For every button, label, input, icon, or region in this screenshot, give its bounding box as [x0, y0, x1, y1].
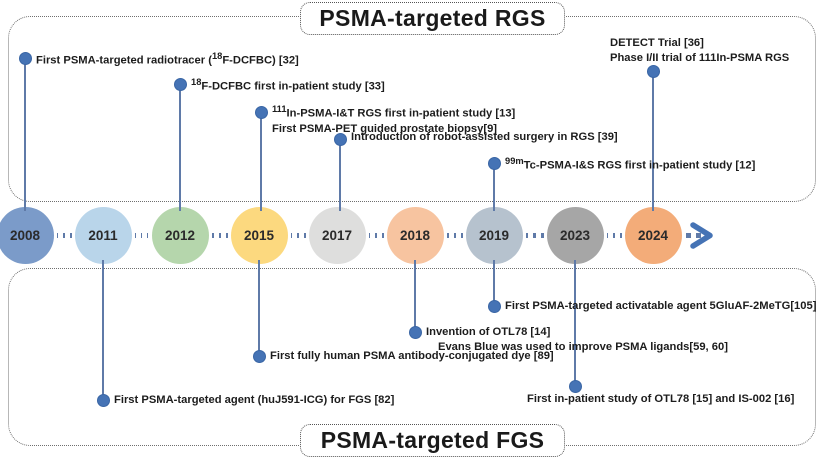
- rgs-event-2024: DETECT Trial [36] Phase I/II trial of 11…: [610, 36, 789, 66]
- rgs-event-2017-line-0: Introduction of robot-assisted surgery i…: [351, 130, 618, 145]
- rgs-event-2019-line-0: 99mTc-PSMA-I&S RGS first in-patient stud…: [505, 154, 755, 174]
- event-dot-rgs-2015: [255, 106, 268, 119]
- rgs-event-2012: 18F-DCFBC first in-patient study [33]: [191, 75, 385, 95]
- timeline-connector-segment: [369, 233, 384, 238]
- timeline-year-2023: 2023: [547, 207, 604, 264]
- event-dot-rgs-2019: [488, 157, 501, 170]
- timeline-year-2011: 2011: [75, 207, 132, 264]
- rgs-event-2012-line-0: 18F-DCFBC first in-patient study [33]: [191, 75, 385, 95]
- timeline-figure: PSMA-targeted RGS PSMA-targeted FGS 2008…: [0, 0, 824, 461]
- timeline-connector-segment: [607, 233, 622, 238]
- timeline-year-2019: 2019: [466, 207, 523, 264]
- fgs-event-2023: First in-patient study of OTL78 [15] and…: [527, 392, 794, 407]
- stem-fgs-2015: [258, 260, 260, 357]
- rgs-event-2008: First PSMA-targeted radiotracer (18F-DCF…: [36, 49, 299, 69]
- timeline-year-2012: 2012: [152, 207, 209, 264]
- rgs-section-title: PSMA-targeted RGS: [300, 2, 565, 35]
- stem-rgs-2017: [339, 139, 341, 211]
- rgs-event-2024-line-1: Phase I/II trial of 111In-PSMA RGS: [610, 51, 789, 66]
- timeline-connector-segment: [57, 233, 72, 238]
- timeline-year-2024: 2024: [625, 207, 682, 264]
- fgs-event-2018-line-1: Evans Blue was used to improve PSMA liga…: [426, 340, 728, 355]
- timeline-arrow-icon: [688, 222, 718, 249]
- timeline-year-label: 2017: [322, 228, 352, 243]
- rgs-event-2015-line-0: 111In-PSMA-I&T RGS first in-patient stud…: [272, 102, 515, 122]
- timeline-year-label: 2015: [244, 228, 274, 243]
- rgs-event-2019: 99mTc-PSMA-I&S RGS first in-patient stud…: [505, 154, 755, 174]
- timeline-year-2017: 2017: [309, 207, 366, 264]
- stem-fgs-2018: [414, 260, 416, 333]
- stem-rgs-2015: [260, 112, 262, 211]
- event-dot-fgs-2015: [253, 350, 266, 363]
- event-dot-rgs-2008: [19, 52, 32, 65]
- timeline-year-label: 2008: [10, 228, 40, 243]
- timeline-year-label: 2018: [400, 228, 430, 243]
- timeline-year-2018: 2018: [387, 207, 444, 264]
- event-dot-rgs-2024: [647, 65, 660, 78]
- stem-rgs-2012: [179, 84, 181, 211]
- timeline-year-2008: 2008: [0, 207, 54, 264]
- event-dot-rgs-2012: [174, 78, 187, 91]
- rgs-event-2008-line-0: First PSMA-targeted radiotracer (18F-DCF…: [36, 49, 299, 69]
- fgs-event-2011-line-0: First PSMA-targeted agent (huJ591-ICG) f…: [114, 393, 394, 408]
- timeline-year-2015: 2015: [231, 207, 288, 264]
- timeline-connector-segment: [526, 233, 544, 238]
- stem-rgs-2024: [652, 71, 654, 211]
- timeline-connector-segment: [135, 233, 149, 238]
- event-dot-fgs-2018: [409, 326, 422, 339]
- stem-rgs-2019: [493, 163, 495, 211]
- fgs-event-2019: First PSMA-targeted activatable agent 5G…: [505, 299, 816, 314]
- event-dot-fgs-2019: [488, 300, 501, 313]
- fgs-event-2018: Invention of OTL78 [14] Evans Blue was u…: [426, 325, 728, 355]
- timeline-year-label: 2012: [165, 228, 195, 243]
- fgs-section-title: PSMA-targeted FGS: [300, 424, 565, 457]
- timeline-connector-segment: [291, 233, 306, 238]
- stem-fgs-2023: [574, 260, 576, 387]
- rgs-event-2024-line-0: DETECT Trial [36]: [610, 36, 789, 51]
- event-dot-fgs-2011: [97, 394, 110, 407]
- fgs-event-2018-line-0: Invention of OTL78 [14]: [426, 325, 728, 340]
- fgs-event-2011: First PSMA-targeted agent (huJ591-ICG) f…: [114, 393, 394, 408]
- fgs-event-2019-line-0: First PSMA-targeted activatable agent 5G…: [505, 299, 816, 314]
- timeline-year-label: 2024: [638, 228, 668, 243]
- timeline-connector-segment: [447, 233, 463, 238]
- fgs-event-2023-line-0: First in-patient study of OTL78 [15] and…: [527, 392, 794, 407]
- stem-fgs-2011: [102, 260, 104, 401]
- stem-rgs-2008: [24, 58, 26, 211]
- timeline-year-label: 2019: [479, 228, 509, 243]
- timeline-connector-segment: [212, 233, 228, 238]
- timeline-year-label: 2011: [88, 228, 117, 243]
- rgs-event-2017: Introduction of robot-assisted surgery i…: [351, 130, 618, 145]
- timeline-year-label: 2023: [560, 228, 590, 243]
